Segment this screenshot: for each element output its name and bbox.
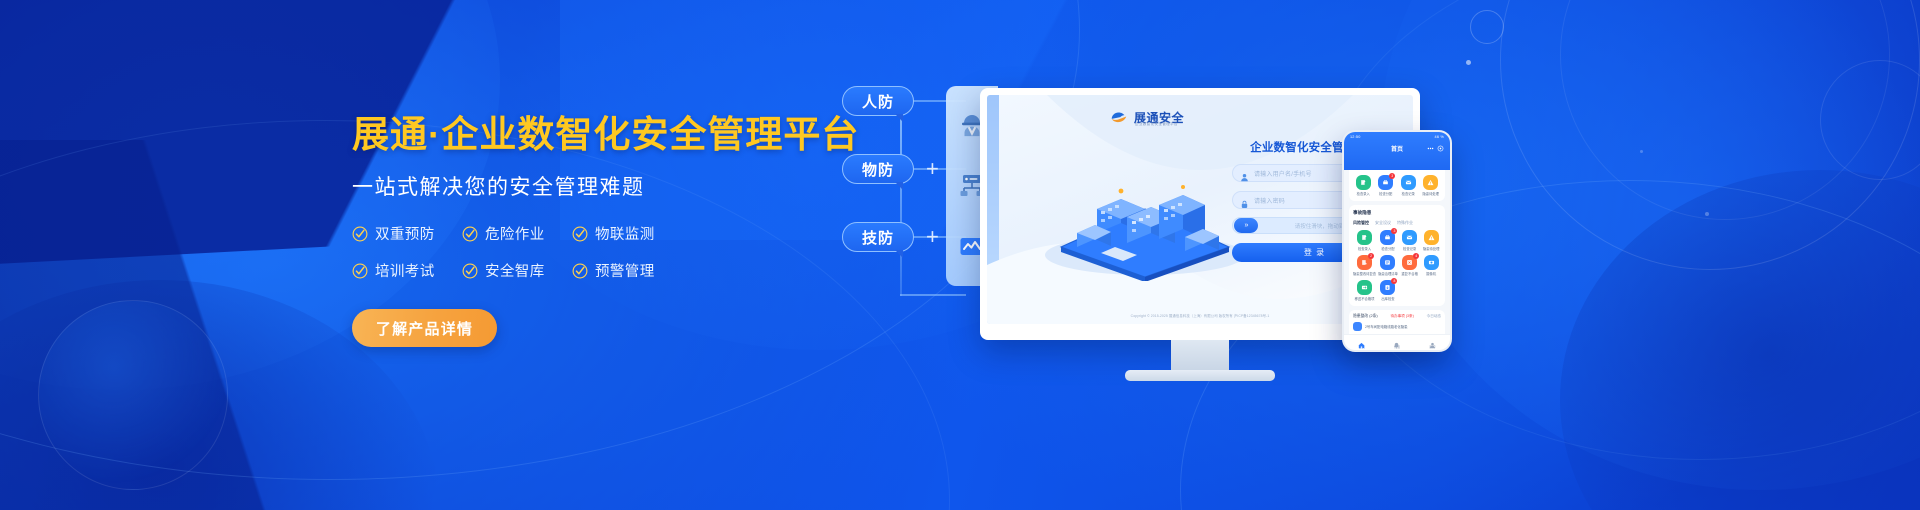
summary-left: 隐患整改 (2条) — [1353, 314, 1378, 319]
learn-more-button[interactable]: 了解产品详情 — [352, 309, 497, 347]
plus-separator: + — [926, 158, 939, 180]
check-circle-icon — [352, 226, 368, 242]
item-thumb-icon — [1353, 322, 1362, 331]
tab-home[interactable]: 首页 — [1358, 336, 1365, 349]
phone-screen: 12:50 46 % 首页 常用功能 编辑 — [1344, 132, 1450, 350]
defense-badge-column: 人防 物防 技防 + + — [842, 78, 962, 318]
assign-icon: 3 — [1380, 230, 1395, 245]
feature-label: 培训考试 — [375, 260, 435, 281]
phone-nav-bar: 首页 — [1344, 144, 1450, 153]
phone-section-hazard: 事故隐患 风险管控 安全设议 特殊作业 检查录入 — [1349, 205, 1445, 306]
connector-vertical — [900, 106, 902, 296]
app-tile[interactable]: 移送不合格项 — [1353, 280, 1376, 301]
app-tile[interactable]: 3 检查分配 — [1376, 175, 1397, 196]
section-title: 事故隐患 — [1353, 210, 1371, 216]
bg-ring-3 — [38, 300, 228, 490]
list-icon — [1380, 255, 1395, 270]
app-label: 检查分配 — [1379, 192, 1392, 196]
app-grid: 检查录入 3 检查分配 — [1353, 175, 1441, 196]
recheck-icon: 2 — [1357, 255, 1372, 270]
page-subtitle: 一站式解决您的安全管理难题 — [352, 171, 872, 201]
feature-item: 物联监测 — [572, 223, 682, 244]
lock-icon — [1240, 196, 1249, 205]
warning-icon — [1424, 230, 1439, 245]
app-tile[interactable]: 3 检查分配 — [1378, 230, 1398, 251]
page-title: 展通·企业数智化安全管理平台 — [352, 112, 872, 158]
edit-doc-icon — [1356, 175, 1371, 190]
app-tile[interactable]: 摄像机 — [1421, 255, 1441, 276]
warning-icon — [1423, 175, 1438, 190]
check-circle-icon — [462, 263, 478, 279]
mobile-phone-mockup: 12:50 46 % 首页 常用功能 编辑 — [1342, 130, 1452, 352]
app-label: 隐患待处理 — [1423, 247, 1439, 251]
monitor-base — [1125, 370, 1275, 381]
tab-item[interactable]: 特殊作业 — [1397, 220, 1413, 226]
status-time: 12:50 — [1350, 135, 1361, 139]
app-tile[interactable]: 4 重复不合格 — [1400, 255, 1420, 276]
app-tile[interactable]: 2 隐患整改待复查 — [1353, 255, 1376, 276]
feature-label: 安全智库 — [485, 260, 545, 281]
feature-item: 培训考试 — [352, 260, 462, 281]
badge-count: 3 — [1391, 228, 1397, 234]
section-header: 事故隐患 — [1353, 210, 1441, 216]
summary-mid: 待办事项 (3条) — [1390, 314, 1413, 319]
camera-icon — [1424, 255, 1439, 270]
tab-profile[interactable]: 我的 — [1429, 336, 1436, 349]
badge-count: 4 — [1413, 253, 1419, 259]
app-label: 移送不合格项 — [1355, 297, 1375, 301]
badge-count: 3 — [1389, 173, 1395, 179]
app-tile[interactable]: 8 出库检查 — [1378, 280, 1398, 301]
product-illustration: 人防 物防 技防 + + — [830, 58, 1890, 478]
app-label: 出库检查 — [1381, 297, 1394, 301]
check-circle-icon — [572, 226, 588, 242]
edit-doc-icon — [1357, 230, 1372, 245]
feature-label: 物联监测 — [595, 223, 655, 244]
user-icon — [1240, 169, 1249, 178]
feature-list: 双重预防 危险作业 物联监测 培训考试 — [352, 223, 682, 281]
slider-knob[interactable]: » — [1234, 218, 1258, 233]
connector-horizontal — [900, 294, 966, 296]
bg-ring-4 — [1470, 10, 1504, 44]
tab-label: 首页 — [1358, 344, 1364, 349]
section-tabs: 风险管控 安全设议 特殊作业 — [1353, 220, 1441, 226]
fail-icon: 4 — [1402, 255, 1417, 270]
app-label: 检查分配 — [1381, 247, 1394, 251]
hero-copy: 展通·企业数智化安全管理平台 一站式解决您的安全管理难题 双重预防 危险作业 物… — [352, 112, 872, 347]
plus-separator: + — [926, 226, 939, 248]
feature-item: 双重预防 — [352, 223, 462, 244]
feature-item: 安全智库 — [462, 260, 572, 281]
phone-header: 12:50 46 % 首页 — [1344, 132, 1450, 170]
app-label: 隐患待处理 — [1423, 192, 1439, 196]
check-circle-icon — [462, 226, 478, 242]
status-battery: 46 % — [1435, 135, 1444, 139]
list-item-text: 2号车间配电箱线路老化隐患 — [1365, 325, 1408, 329]
app-label: 摄像机 — [1426, 272, 1436, 276]
phone-nav-actions[interactable] — [1427, 145, 1444, 152]
tab-item[interactable]: 风险管控 — [1353, 220, 1369, 226]
check-circle-icon — [572, 263, 588, 279]
platform-logo: 展通安全 企业数智化安全管理平台 — [1109, 107, 1184, 127]
badge-wufang[interactable]: 物防 — [842, 154, 914, 184]
username-placeholder: 请输入用户名/手机号 — [1254, 169, 1312, 178]
summary-row: 隐患整改 (2条) 待办事项 (3条) 今日动态 — [1353, 314, 1441, 319]
monitor-stand — [1171, 340, 1229, 370]
feature-label: 预警管理 — [595, 260, 655, 281]
feature-item: 危险作业 — [462, 223, 572, 244]
badge-count: 2 — [1368, 253, 1374, 259]
feature-label: 危险作业 — [485, 223, 545, 244]
badge-renfang[interactable]: 人防 — [842, 86, 914, 116]
app-label: 隐患治理清单 — [1378, 272, 1398, 276]
app-label: 检查录入 — [1357, 192, 1370, 196]
bell-icon — [1393, 336, 1400, 343]
summary-right: 今日动态 — [1427, 314, 1441, 319]
phone-tab-bar: 首页 消息 我的 — [1344, 334, 1450, 350]
badge-jifang[interactable]: 技防 — [842, 222, 914, 252]
password-placeholder: 请输入密码 — [1254, 196, 1285, 205]
phone-status-bar: 12:50 46 % — [1344, 132, 1450, 139]
badge-count: 8 — [1391, 278, 1397, 284]
tab-message[interactable]: 消息 — [1393, 336, 1400, 349]
hero-banner: 展通·企业数智化安全管理平台 一站式解决您的安全管理难题 双重预防 危险作业 物… — [0, 0, 1920, 510]
feature-item: 预警管理 — [572, 260, 682, 281]
app-tile[interactable]: 检查录入 — [1353, 175, 1374, 196]
tab-label: 消息 — [1394, 344, 1400, 349]
transfer-icon — [1357, 280, 1372, 295]
app-tile[interactable]: 检查录入 — [1353, 230, 1376, 251]
mail-icon — [1402, 230, 1417, 245]
app-tile[interactable]: 隐患治理清单 — [1378, 255, 1398, 276]
app-tile[interactable]: 隐患待处理 — [1421, 230, 1441, 251]
mail-icon — [1401, 175, 1416, 190]
tab-item[interactable]: 安全设议 — [1375, 220, 1391, 226]
app-tile[interactable]: 检查记录 — [1398, 175, 1419, 196]
logo-subtext: 企业数智化安全管理平台 — [1135, 122, 1178, 127]
app-grid: 检查录入 3 检查分配 — [1353, 230, 1441, 301]
app-label: 检查录入 — [1358, 247, 1371, 251]
app-label: 检查记录 — [1402, 192, 1415, 196]
list-item[interactable]: 2号车间配电箱线路老化隐患 — [1353, 322, 1441, 331]
app-label: 重复不合格 — [1401, 272, 1417, 276]
home-icon — [1358, 336, 1365, 343]
isometric-city-illustration — [1027, 151, 1257, 281]
app-label: 检查记录 — [1403, 247, 1416, 251]
logo-mark-icon — [1109, 107, 1129, 127]
target-icon — [1437, 145, 1444, 152]
assign-icon: 3 — [1378, 175, 1393, 190]
tab-label: 我的 — [1429, 344, 1435, 349]
phone-nav-title: 首页 — [1391, 144, 1403, 153]
app-tile[interactable]: 检查记录 — [1400, 230, 1420, 251]
app-label: 隐患整改待复查 — [1353, 272, 1376, 276]
feature-label: 双重预防 — [375, 223, 435, 244]
check-circle-icon — [352, 263, 368, 279]
outbound-icon: 8 — [1380, 280, 1395, 295]
more-icon — [1427, 145, 1434, 152]
user-icon — [1429, 336, 1436, 343]
app-tile[interactable]: 隐患待处理 — [1421, 175, 1442, 196]
